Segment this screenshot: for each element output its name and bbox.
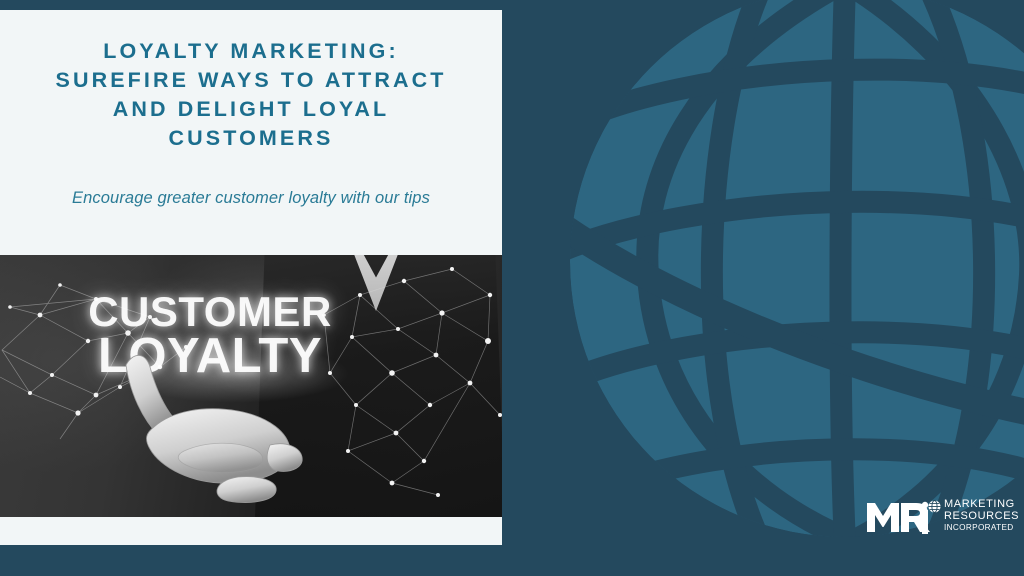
content-card: LOYALTY MARKETING: SUREFIRE WAYS TO ATTR… bbox=[0, 10, 502, 545]
logo-wordmark: MARKETING RESOURCES INCORPORATED bbox=[944, 499, 1019, 534]
photo-overlay-line-1: CUSTOMER bbox=[0, 291, 420, 332]
logo-line-2: RESOURCES bbox=[944, 511, 1019, 523]
page-title: LOYALTY MARKETING: SUREFIRE WAYS TO ATTR… bbox=[0, 37, 502, 153]
page-title-line-1: LOYALTY MARKETING: bbox=[18, 37, 484, 66]
slide-canvas: LOYALTY MARKETING: SUREFIRE WAYS TO ATTR… bbox=[0, 0, 1024, 576]
page-title-line-3: AND DELIGHT LOYAL bbox=[18, 95, 484, 124]
page-title-line-2: SUREFIRE WAYS TO ATTRACT bbox=[18, 66, 484, 95]
mri-monogram-icon bbox=[866, 500, 932, 534]
company-logo[interactable]: MARKETING RESOURCES INCORPORATED bbox=[866, 498, 1014, 542]
logo-line-3: INCORPORATED bbox=[944, 522, 1019, 534]
logo-globe-icon bbox=[928, 500, 941, 513]
hero-photo: CUSTOMER LOYALTY bbox=[0, 255, 502, 517]
open-hand-illustration bbox=[120, 341, 380, 517]
page-title-line-4: CUSTOMERS bbox=[18, 124, 484, 153]
title-block: LOYALTY MARKETING: SUREFIRE WAYS TO ATTR… bbox=[0, 10, 502, 208]
logo-line-1: MARKETING bbox=[944, 499, 1019, 511]
page-subtitle: Encourage greater customer loyalty with … bbox=[0, 153, 502, 208]
